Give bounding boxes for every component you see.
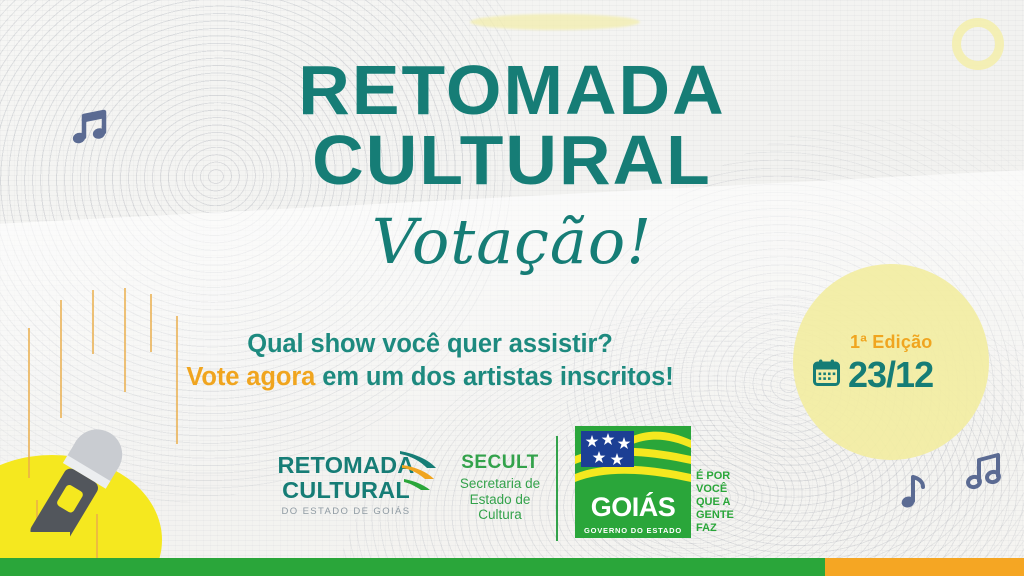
calendar-icon bbox=[812, 358, 841, 392]
poster-canvas: RETOMADA CULTURAL Votação! Qual show voc… bbox=[0, 0, 1024, 576]
headline-line-1: RETOMADA bbox=[0, 58, 1024, 122]
date-badge: 1ª Edição bbox=[812, 332, 982, 396]
logo-retomada-line-3: DO ESTADO DE GOIÁS bbox=[258, 506, 434, 517]
goias-tagline-line-2: VOCÊ bbox=[696, 483, 734, 496]
question-line-1: Qual show você quer assistir? bbox=[110, 328, 750, 361]
goias-tagline-line-1: É POR bbox=[696, 470, 734, 483]
goias-tagline: É POR VOCÊ QUE A GENTE FAZ bbox=[696, 470, 734, 535]
goias-flag-mark: GOIÁS GOVERNO DO ESTADO bbox=[575, 426, 691, 538]
date-value: 23/12 bbox=[848, 354, 933, 396]
bottom-bar-orange bbox=[825, 558, 1024, 576]
footer-logos: RETOMADA CULTURAL DO ESTADO DE GOIÁS SEC… bbox=[0, 426, 1024, 546]
logo-retomada-cultural: RETOMADA CULTURAL DO ESTADO DE GOIÁS bbox=[258, 454, 434, 517]
goias-tagline-line-3: QUE A bbox=[696, 496, 734, 509]
date-edition-label: 1ª Edição bbox=[850, 332, 982, 353]
goias-canton bbox=[581, 431, 634, 467]
logo-goias-government: GOIÁS GOVERNO DO ESTADO É POR VOCÊ QUE A… bbox=[575, 426, 735, 544]
question-highlight: Vote agora bbox=[186, 363, 315, 391]
goias-wordmark: GOIÁS bbox=[575, 492, 691, 523]
bottom-color-bar bbox=[0, 558, 1024, 576]
bottom-bar-green bbox=[0, 558, 825, 576]
logo-secult: SECULT Secretaria de Estado de Cultura bbox=[446, 452, 554, 523]
goias-tagline-line-4: GENTE bbox=[696, 509, 734, 522]
date-row: 23/12 bbox=[812, 354, 982, 396]
poster-headline: RETOMADA CULTURAL bbox=[0, 58, 1024, 193]
yellow-blob-top bbox=[470, 14, 640, 30]
goias-tagline-line-5: FAZ bbox=[696, 522, 734, 535]
yellow-bar-stub bbox=[24, 532, 70, 558]
goias-subtitle: GOVERNO DO ESTADO bbox=[575, 526, 691, 535]
secult-name: Secretaria de Estado de Cultura bbox=[446, 476, 554, 523]
vertical-divider bbox=[556, 436, 558, 541]
question-block: Qual show você quer assistir? Vote agora… bbox=[110, 328, 750, 394]
secult-acronym: SECULT bbox=[446, 452, 554, 474]
question-line-2-rest: em um dos artistas inscritos! bbox=[315, 363, 673, 391]
swoosh-mark-icon bbox=[396, 448, 438, 499]
script-subtitle: Votação! bbox=[0, 205, 1024, 278]
headline-line-2: CULTURAL bbox=[0, 128, 1024, 192]
question-line-2: Vote agora em um dos artistas inscritos! bbox=[110, 361, 750, 394]
